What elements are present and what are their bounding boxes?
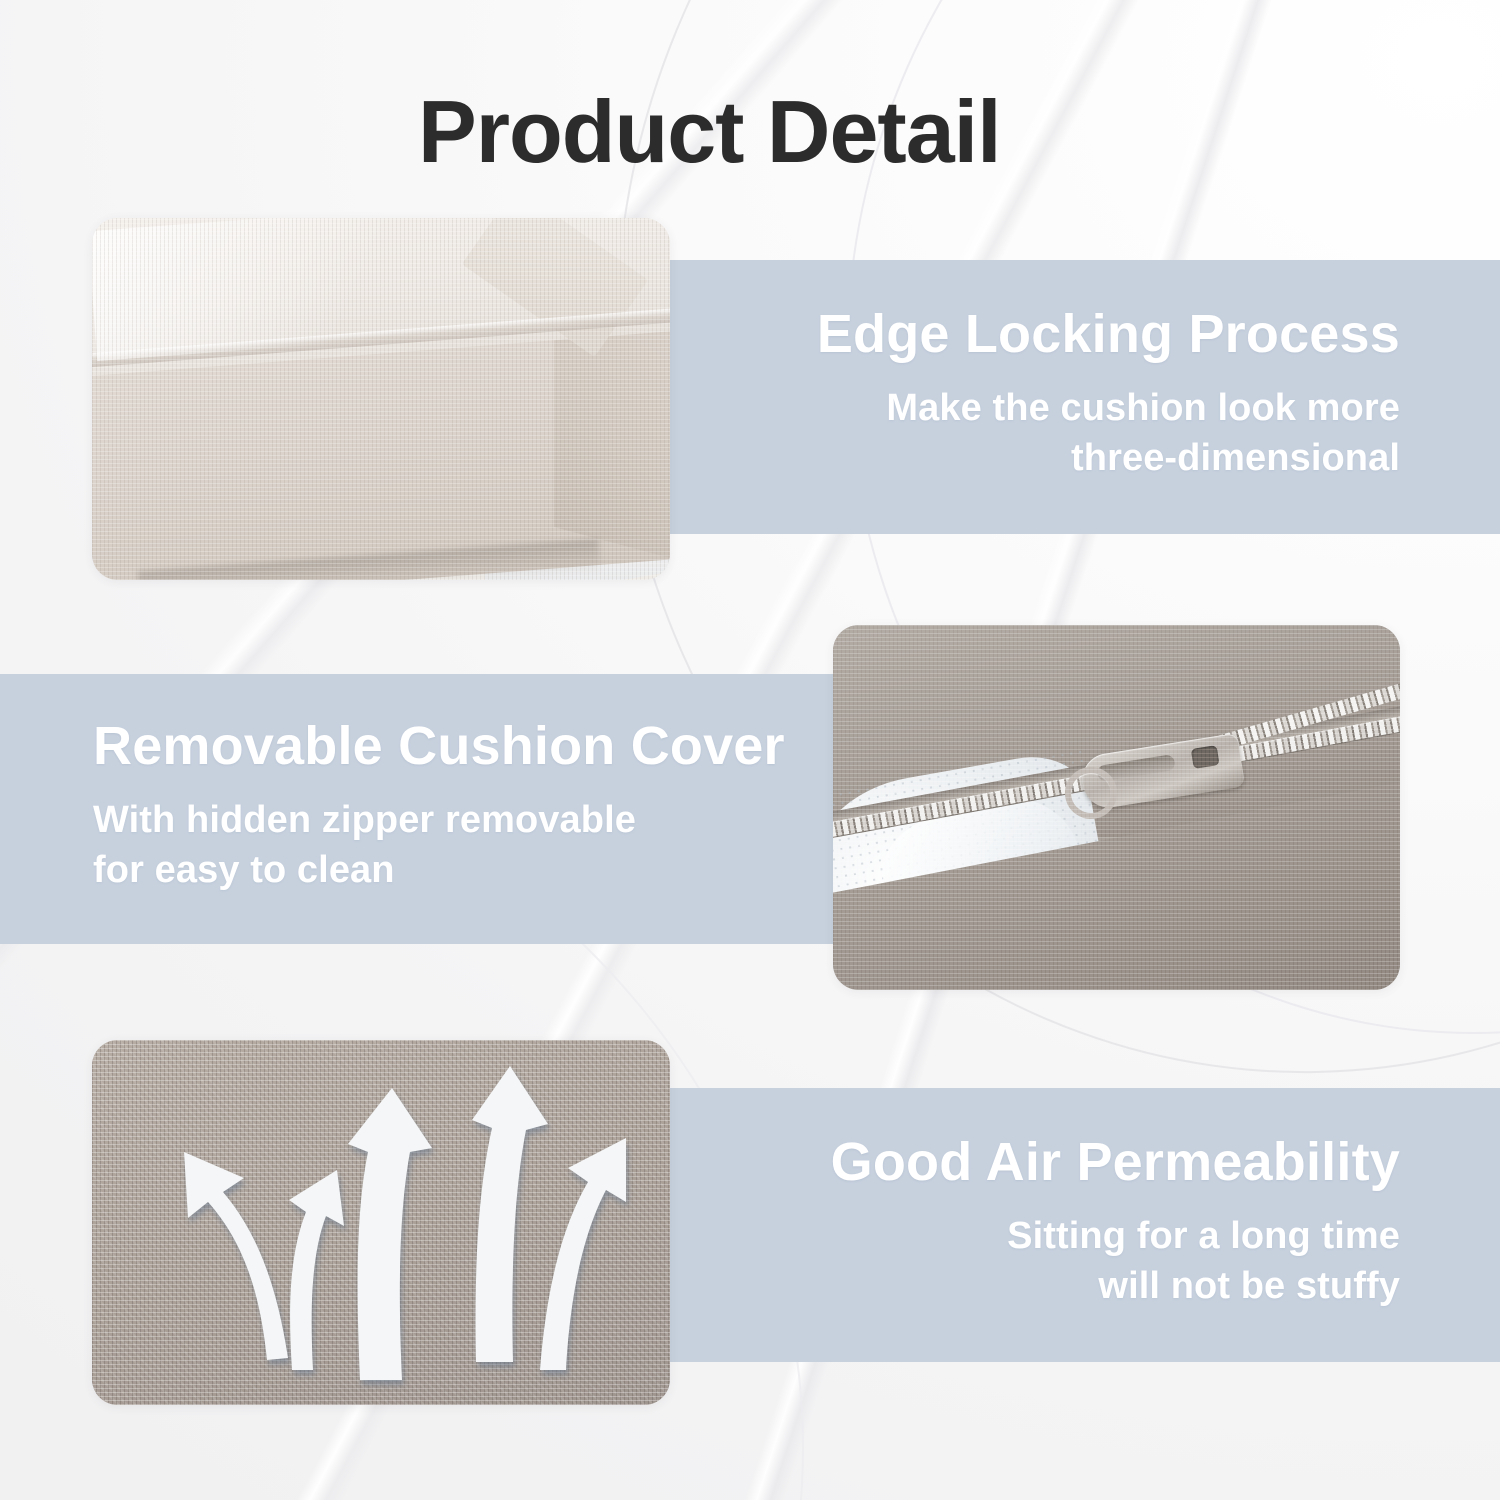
cushion-corner-photo [92,218,670,580]
page-title: Product Detail [418,88,1001,176]
feature-subtitle-edge-locking: Make the cushion look more three-dimensi… [817,384,1400,483]
hidden-zipper-photo [833,625,1400,990]
feature-band-air-permeability: Good Air Permeability Sitting for a long… [667,1088,1500,1362]
linen-weave-texture [92,218,670,580]
feature-subtitle-line: Make the cushion look more [817,384,1400,433]
airflow-arrows-photo [92,1040,670,1405]
airflow-arrow-icon [472,1066,548,1362]
feature-subtitle-line: With hidden zipper removable [93,796,785,845]
airflow-arrow-group [92,1040,670,1405]
airflow-arrow-icon [184,1152,288,1360]
feature-subtitle-removable-cover: With hidden zipper removable for easy to… [93,796,785,895]
feature-subtitle-line: for easy to clean [93,846,785,895]
feature-subtitle-line: three-dimensional [817,434,1400,483]
feature-subtitle-line: Sitting for a long time [831,1212,1400,1261]
airflow-arrow-icon [289,1170,344,1370]
feature-subtitle-line: will not be stuffy [831,1262,1400,1311]
feature-heading-air-permeability: Good Air Permeability [831,1134,1400,1190]
feature-subtitle-air-permeability: Sitting for a long time will not be stuf… [831,1212,1400,1311]
airflow-arrow-icon [540,1138,626,1370]
feature-band-removable-cover: Removable Cushion Cover With hidden zipp… [0,674,840,944]
product-detail-infographic: Product Detail Edge Locking Process Make… [0,0,1500,1500]
feature-band-edge-locking: Edge Locking Process Make the cushion lo… [667,260,1500,534]
airflow-arrow-icon [348,1088,432,1380]
feature-heading-removable-cover: Removable Cushion Cover [93,718,785,774]
feature-heading-edge-locking: Edge Locking Process [817,306,1400,362]
